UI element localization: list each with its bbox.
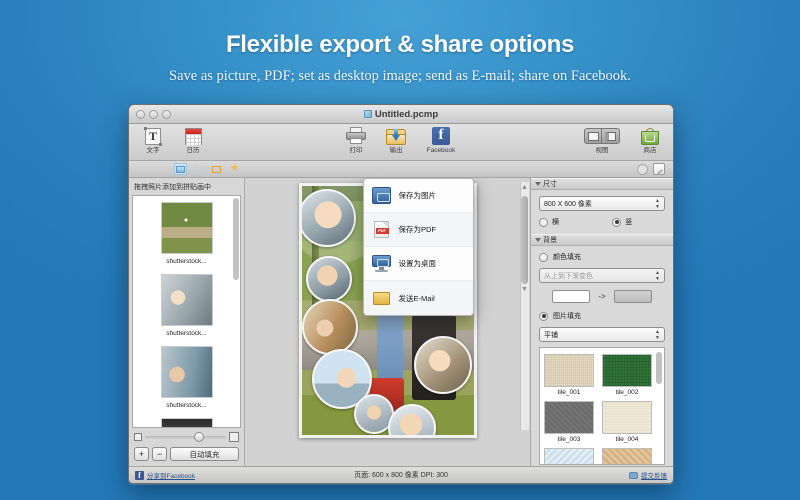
export-popup-menu[interactable]: 保存为图片 保存为PDF 设置为桌面 发送E-Mail (363, 178, 474, 316)
radio-icon-selected (539, 312, 548, 321)
color-fill-radio[interactable]: 颜色填充 (539, 252, 665, 262)
color-fill-label: 颜色填充 (553, 252, 581, 262)
list-item[interactable]: shutterstock... (133, 268, 240, 340)
tile-item[interactable] (602, 448, 652, 465)
scroll-up-icon[interactable]: ▲ (521, 184, 528, 191)
canvas-scrollbar-thumb[interactable] (521, 196, 528, 284)
star-icon[interactable]: ★ (228, 163, 241, 175)
photo-icon[interactable] (174, 163, 187, 175)
small-thumb-icon (134, 433, 142, 441)
window-title-text: Untitled.pcmp (375, 109, 438, 120)
large-thumb-icon (229, 432, 239, 442)
tile-swatch (544, 448, 594, 465)
page-info-label: 页面: 600 x 800 像素 DPI: 300 (129, 470, 673, 480)
toolbar-button-view[interactable]: 视图 (583, 126, 621, 155)
frame-icon[interactable] (210, 163, 223, 175)
photo-list-scrollbar[interactable] (233, 198, 239, 280)
photo-thumbnail (161, 418, 213, 428)
printer-icon (339, 126, 373, 146)
tile-name: tile_002 (602, 389, 652, 396)
canvas-scrollbar[interactable]: ▲ ▼ (520, 182, 529, 430)
toolbar-button-facebook[interactable]: f Facebook (419, 126, 463, 155)
store-bag-icon (633, 126, 667, 146)
gradient-start-swatch[interactable] (552, 290, 590, 303)
menu-item-label: 保存为图片 (399, 190, 437, 201)
tile-item[interactable]: tile_004 (602, 401, 652, 443)
tile-gallery[interactable]: tile_001 tile_002 tile_003 tile_004 (539, 347, 665, 465)
canvas-area[interactable]: 保存为图片 保存为PDF 设置为桌面 发送E-Mail (245, 178, 531, 466)
tile-swatch (544, 354, 594, 387)
heart-icon[interactable]: ♡ (192, 163, 205, 175)
canvas-wrapper: 保存为图片 保存为PDF 设置为桌面 发送E-Mail (299, 183, 477, 438)
size-section-body: 800 X 600 像素 ▲▼ 横 竖 (531, 190, 673, 234)
collage-photo-bubble[interactable] (414, 336, 472, 394)
send-email-icon (372, 290, 391, 307)
orientation-radio-group: 横 竖 (539, 217, 665, 227)
menu-item-save-pdf[interactable]: 保存为PDF (364, 213, 473, 247)
radio-icon (539, 253, 548, 262)
tile-swatch (544, 401, 594, 434)
tile-grid: tile_001 tile_002 tile_003 tile_004 (544, 354, 660, 465)
feedback-label: 提交反馈 (641, 470, 667, 480)
toolbar-button-export[interactable]: 输出 (379, 126, 413, 155)
toolbar-label-print: 打印 (339, 147, 373, 155)
toolbar-button-store[interactable]: 商店 (633, 126, 667, 155)
gear-icon[interactable] (637, 164, 648, 175)
radio-icon-selected (612, 218, 621, 227)
menu-item-set-desktop[interactable]: 设置为桌面 (364, 247, 473, 281)
inspector-panel: 尺寸 800 X 600 像素 ▲▼ 横 竖 (531, 178, 673, 466)
orientation-portrait-label: 竖 (625, 217, 632, 227)
facebook-icon: f (419, 126, 463, 146)
section-title-background: 背景 (543, 235, 557, 245)
tiling-mode-value: 平铺 (544, 330, 558, 340)
autofill-button[interactable]: 自动填充 (170, 447, 239, 461)
section-header-background[interactable]: 背景 (531, 234, 673, 246)
chevron-down-icon (535, 238, 541, 242)
promo-subtitle: Save as picture, PDF; set as desktop ima… (0, 68, 800, 85)
gradient-arrow-label: -> (598, 292, 605, 301)
size-preset-value: 800 X 600 像素 (544, 199, 592, 209)
section-title-size: 尺寸 (543, 179, 557, 189)
tile-name: tile_003 (544, 436, 594, 443)
menu-item-save-picture[interactable]: 保存为图片 (364, 179, 473, 213)
photo-caption: shutterstock... (133, 402, 240, 409)
promo-header: Flexible export & share options Save as … (0, 0, 800, 85)
list-item[interactable]: shutterstock... (133, 340, 240, 412)
app-window: Untitled.pcmp T 文字 日历 打印 (128, 104, 674, 484)
tile-item[interactable]: tile_003 (544, 401, 594, 443)
orientation-landscape-label: 横 (552, 217, 559, 227)
tile-name: tile_001 (544, 389, 594, 396)
tile-swatch (602, 448, 652, 465)
set-desktop-icon (372, 255, 391, 272)
size-preset-select[interactable]: 800 X 600 像素 ▲▼ (539, 196, 665, 211)
slider-track[interactable] (145, 436, 226, 439)
document-icon (364, 110, 372, 118)
collage-photo-bubble[interactable] (299, 189, 356, 247)
drag-hint-label: 拖拽照片添加到拼贴画中 (132, 181, 241, 195)
photo-thumbnail (161, 346, 213, 398)
speech-bubble-icon (629, 472, 638, 479)
tile-item[interactable]: tile_001 (544, 354, 594, 396)
menu-item-label: 设置为桌面 (399, 258, 437, 269)
radio-icon (539, 218, 548, 227)
gradient-swatches: -> (539, 290, 665, 303)
secondary-toolbar: ♡ ★ (129, 161, 673, 178)
tile-swatch (602, 401, 652, 434)
save-picture-icon (372, 187, 391, 204)
menu-item-label: 保存为PDF (399, 224, 437, 235)
image-fill-label: 图片填充 (553, 311, 581, 321)
toolbar-label-facebook: Facebook (419, 147, 463, 155)
list-item[interactable] (133, 412, 240, 428)
tile-item[interactable]: tile_002 (602, 354, 652, 396)
promo-title: Flexible export & share options (0, 31, 800, 59)
pencil-icon[interactable] (653, 163, 665, 175)
photo-library-panel: 拖拽照片添加到拼贴画中 shutterstock... shutterstock… (129, 178, 245, 466)
main-toolbar: T 文字 日历 打印 (129, 124, 673, 161)
view-toggle-icon (583, 126, 621, 146)
window-titlebar: Untitled.pcmp (129, 105, 673, 124)
collage-photo-bubble[interactable] (302, 299, 358, 355)
list-item[interactable]: shutterstock... (133, 196, 240, 268)
photo-list[interactable]: shutterstock... shutterstock... shutters… (132, 195, 241, 428)
menu-item-label: 发送E-Mail (399, 293, 435, 304)
toolbar-right-group: 视图 商店 (583, 126, 667, 155)
gradient-end-swatch[interactable] (614, 290, 652, 303)
status-bar: f 分享到Facebook 页面: 600 x 800 像素 DPI: 300 … (129, 466, 673, 483)
save-pdf-icon (372, 221, 391, 238)
orientation-landscape-radio[interactable]: 横 (539, 217, 612, 227)
section-header-size[interactable]: 尺寸 (531, 178, 673, 190)
thumbnail-size-slider[interactable] (134, 432, 239, 442)
chevron-down-icon (535, 182, 541, 186)
photo-caption: shutterstock... (133, 258, 240, 265)
photo-thumbnail (161, 274, 213, 326)
chevron-up-down-icon: ▲▼ (654, 199, 661, 210)
chevron-up-down-icon: ▲▼ (654, 330, 661, 341)
gradient-select[interactable]: 从上到下渐变色 ▲▼ (539, 268, 665, 283)
secondary-toolbar-right (637, 163, 665, 175)
orientation-portrait-radio[interactable]: 竖 (612, 217, 632, 227)
tile-item[interactable] (544, 448, 594, 465)
tile-name: tile_004 (602, 436, 652, 443)
gradient-value: 从上到下渐变色 (544, 271, 593, 281)
remove-photo-button[interactable]: − (152, 447, 167, 461)
toolbar-label-store: 商店 (633, 147, 667, 155)
secondary-toolbar-left: ♡ ★ (174, 163, 241, 175)
window-title: Untitled.pcmp (129, 109, 673, 120)
toolbar-label-export: 输出 (379, 147, 413, 155)
tile-swatch (602, 354, 652, 387)
chevron-up-down-icon: ▲▼ (654, 271, 661, 282)
feedback-link[interactable]: 提交反馈 (629, 470, 667, 480)
tiling-mode-select[interactable]: 平铺 ▲▼ (539, 327, 665, 342)
export-folder-icon (379, 126, 413, 146)
slider-handle[interactable] (194, 432, 204, 442)
scroll-down-icon[interactable]: ▼ (521, 286, 528, 293)
background-section-body: 颜色填充 从上到下渐变色 ▲▼ -> 图片填充 平铺 ▲▼ (531, 246, 673, 466)
toolbar-label-view: 视图 (583, 147, 621, 155)
collage-photo-bubble[interactable] (306, 256, 352, 302)
add-photo-button[interactable]: + (134, 447, 149, 461)
window-body: 拖拽照片添加到拼贴画中 shutterstock... shutterstock… (129, 178, 673, 466)
menu-item-send-email[interactable]: 发送E-Mail (364, 281, 473, 315)
photo-panel-buttons: + − 自动填充 (134, 447, 239, 461)
tile-gallery-scrollbar[interactable] (656, 352, 662, 384)
photo-thumbnail (161, 202, 213, 254)
photo-caption: shutterstock... (133, 330, 240, 337)
toolbar-button-print[interactable]: 打印 (339, 126, 373, 155)
image-fill-radio[interactable]: 图片填充 (539, 311, 665, 321)
photo-panel-footer: + − 自动填充 (132, 428, 241, 466)
